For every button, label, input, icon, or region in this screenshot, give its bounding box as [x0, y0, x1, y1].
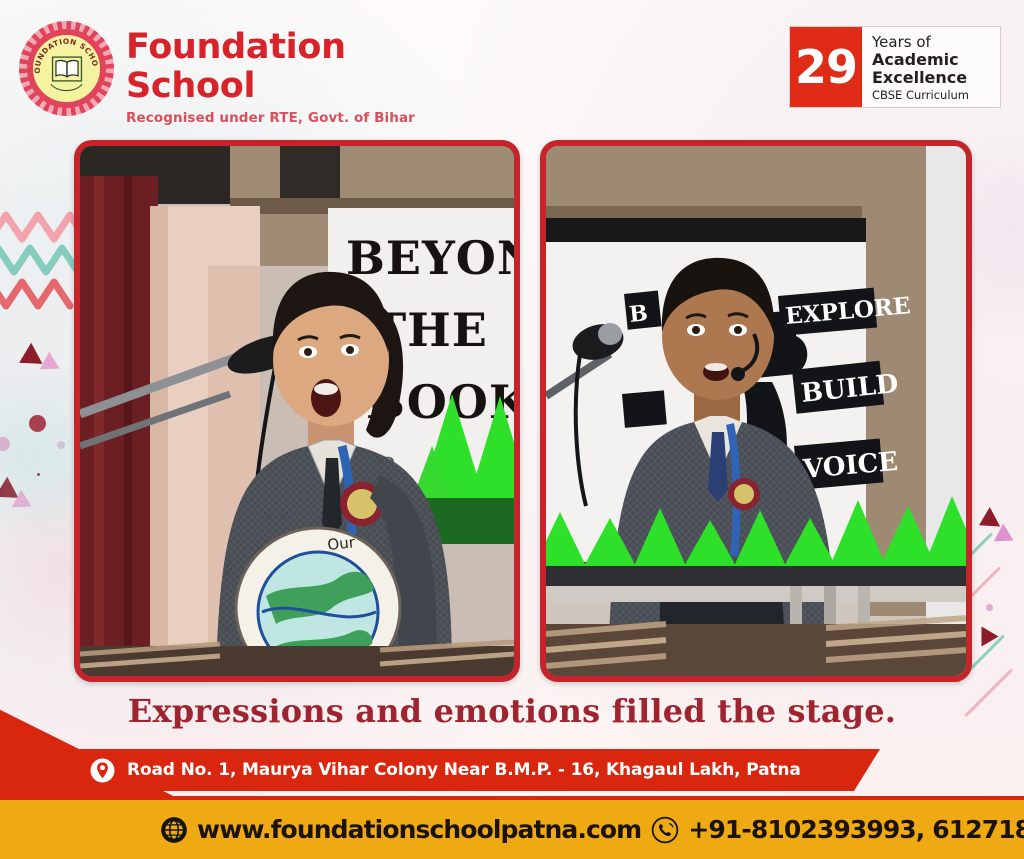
brand-subtitle: Recognised under RTE, Govt. of Bihar — [126, 110, 415, 126]
photo-right: EXPLORE BUILD VOICE B — [546, 146, 966, 676]
photo-left-illustration: BEYOND THE BOOK 3 i — [80, 146, 514, 676]
triangle-pink-icon — [40, 352, 64, 378]
poster-canvas: FOUNDATION SCHOOL Foundation School Reco… — [0, 0, 1024, 859]
school-logo-seal: FOUNDATION SCHOOL — [19, 21, 114, 116]
badge-line-4: CBSE Curriculum — [872, 88, 1000, 102]
badge-years-number: 29 — [790, 27, 862, 107]
badge-line-1: Years of — [872, 34, 1000, 51]
seal-arc-label: FOUNDATION SCHOOL — [31, 33, 100, 74]
badge-text-block: Years of Academic Excellence CBSE Curric… — [862, 27, 1000, 107]
badge-line-3: Excellence — [872, 69, 1000, 87]
tagline: Expressions and emotions filled the stag… — [0, 692, 1024, 730]
triangle-pink-2-icon — [12, 490, 36, 516]
phone-icon — [651, 816, 679, 844]
location-pin-icon — [90, 758, 115, 783]
brand-block: Foundation School Recognised under RTE, … — [126, 28, 415, 126]
dot-lilac-icon — [57, 441, 65, 449]
dot-right-pink-icon — [986, 604, 993, 611]
photo-frame-right: EXPLORE BUILD VOICE B — [540, 140, 972, 682]
brand-line-2: School — [126, 67, 415, 106]
footer-top-rule — [0, 796, 1024, 800]
triangle-right-pink-icon — [994, 524, 1018, 550]
photo-left: BEYOND THE BOOK 3 i — [80, 146, 514, 676]
badge-line-2: Academic — [872, 51, 1000, 69]
brand-line-1: Foundation — [126, 28, 415, 67]
svg-text:B: B — [628, 300, 649, 328]
footer-contact-inner: www.foundationschoolpatna.com +91-810239… — [160, 815, 1024, 844]
footer-contact-bar: www.foundationschoolpatna.com +91-810239… — [0, 800, 1024, 859]
triangle-right-dark-2-icon — [982, 627, 999, 647]
globe-icon — [160, 816, 188, 844]
svg-text:FOUNDATION SCHOOL: FOUNDATION SCHOOL — [31, 33, 100, 74]
seal-arc-text: FOUNDATION SCHOOL — [31, 33, 102, 104]
svg-text:Our: Our — [327, 533, 357, 554]
zigzag-red-icon — [0, 272, 82, 352]
phone-text[interactable]: +91-8102393993, 6127182241 — [688, 815, 1024, 844]
dot-pink-icon — [0, 437, 10, 451]
anniversary-badge: 29 Years of Academic Excellence CBSE Cur… — [789, 26, 1001, 108]
triangle-right-dark-icon — [974, 507, 1000, 535]
photo-right-illustration: EXPLORE BUILD VOICE B — [546, 146, 966, 676]
triangle-dark-red-2-icon — [0, 477, 18, 508]
address-bar: Road No. 1, Maurya Vihar Colony Near B.M… — [42, 749, 880, 791]
triangle-dark-red-icon — [14, 343, 43, 374]
dot-crimson-icon — [29, 415, 46, 432]
svg-text:BEYOND: BEYOND — [346, 231, 514, 285]
website-text[interactable]: www.foundationschoolpatna.com — [197, 815, 641, 844]
address-text: Road No. 1, Maurya Vihar Colony Near B.M… — [127, 760, 801, 780]
dot-tiny-icon — [37, 473, 40, 476]
photo-frame-left: BEYOND THE BOOK 3 i — [74, 140, 520, 682]
